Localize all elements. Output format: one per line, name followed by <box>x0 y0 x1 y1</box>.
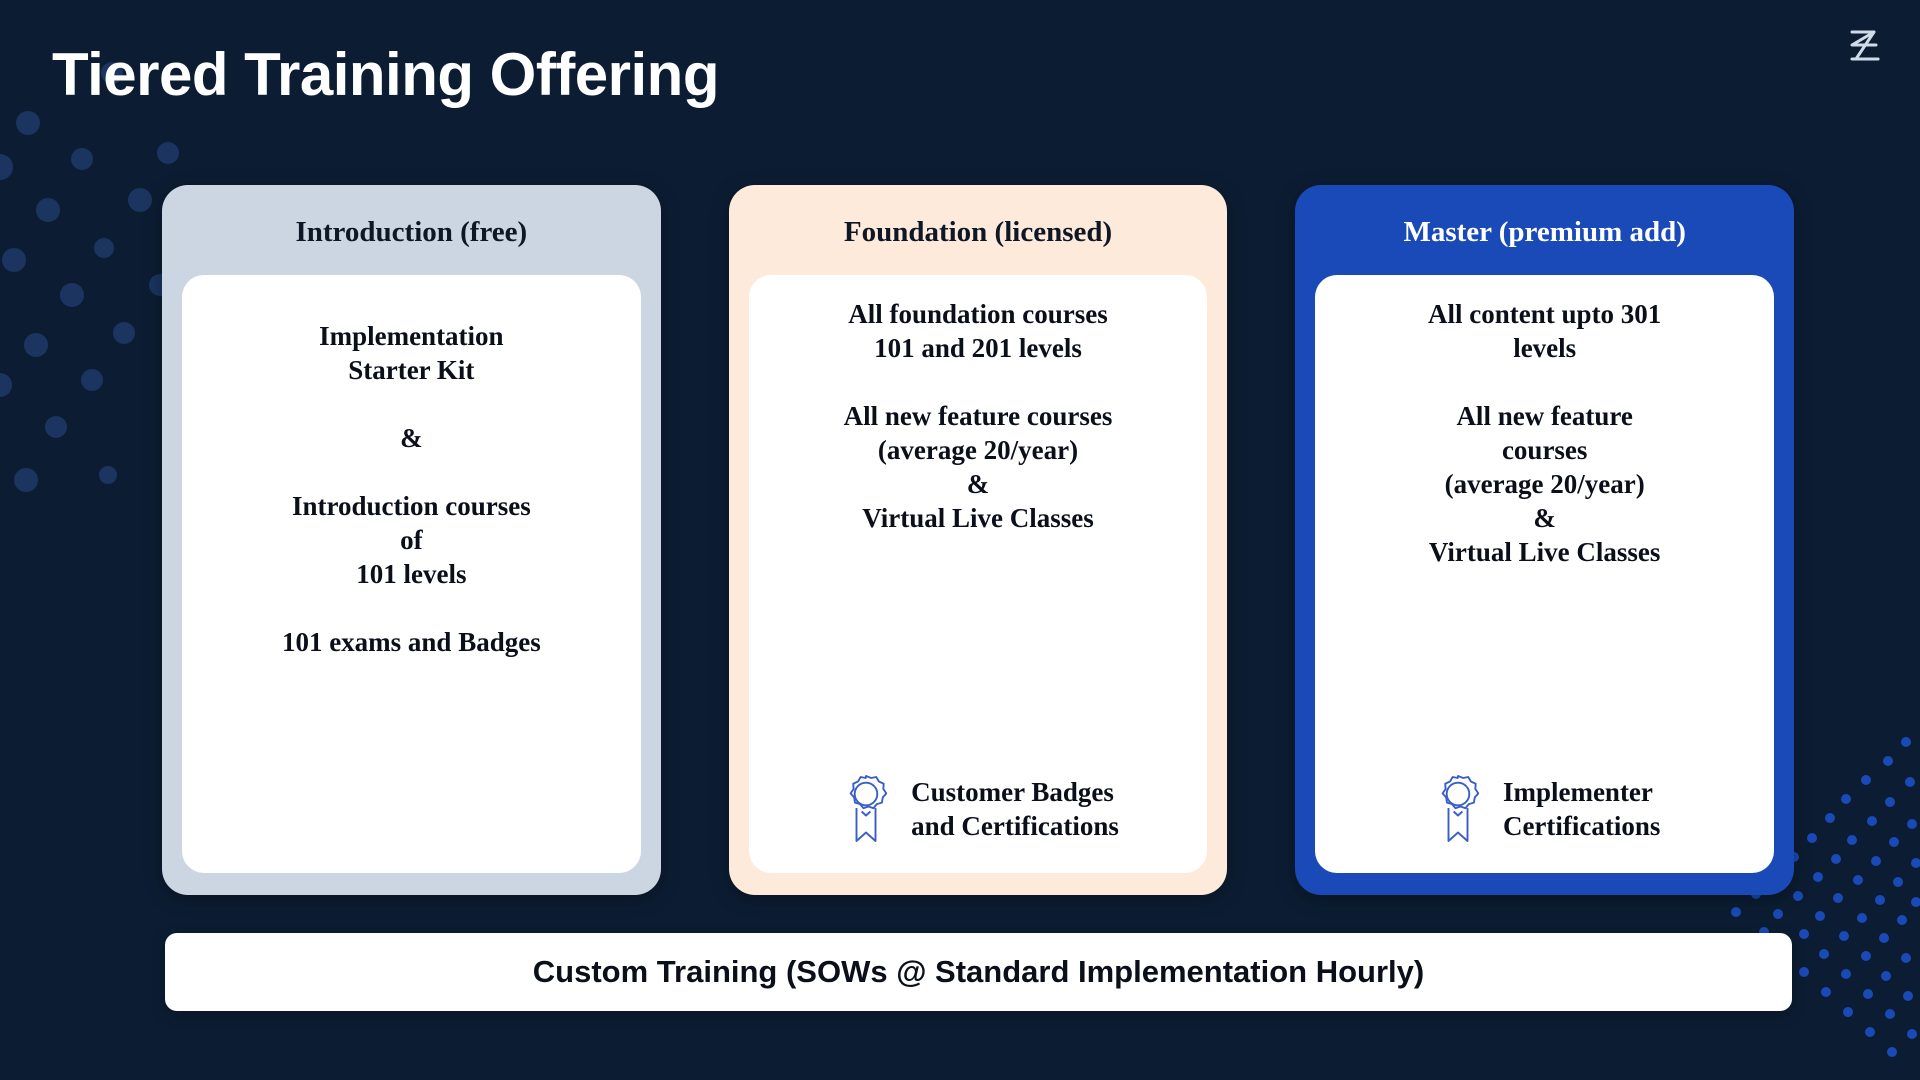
badge-row: Customer Badges and Certifications <box>767 773 1190 855</box>
award-ribbon-icon <box>837 773 895 845</box>
tier-feature-block: All new feature courses (average 20/year… <box>1333 399 1756 569</box>
decorative-dots-left <box>0 55 180 575</box>
tier-card-master[interactable]: Master (premium add) All content upto 30… <box>1295 185 1794 895</box>
badge-row: Implementer Certifications <box>1333 773 1756 855</box>
badge-label: Implementer Certifications <box>1503 775 1660 843</box>
award-ribbon-icon <box>1429 773 1487 845</box>
tier-feature-block: 101 exams and Badges <box>200 625 623 659</box>
tier-card-introduction[interactable]: Introduction (free) Implementation Start… <box>162 185 661 895</box>
tier-title: Introduction (free) <box>162 185 661 249</box>
custom-training-bar[interactable]: Custom Training (SOWs @ Standard Impleme… <box>165 933 1792 1011</box>
tier-feature-block: Introduction courses of 101 levels <box>200 489 623 591</box>
tier-feature-block: All content upto 301 levels <box>1333 297 1756 365</box>
page-title: Tiered Training Offering <box>52 40 719 109</box>
tier-title: Foundation (licensed) <box>729 185 1228 249</box>
tier-cards-row: Introduction (free) Implementation Start… <box>162 185 1794 895</box>
tier-feature-block: Implementation Starter Kit <box>200 319 623 387</box>
zigzag-z-logo <box>1836 18 1892 74</box>
tier-card-foundation[interactable]: Foundation (licensed) All foundation cou… <box>729 185 1228 895</box>
tier-title: Master (premium add) <box>1295 185 1794 249</box>
tier-feature-block: All new feature courses (average 20/year… <box>767 399 1190 535</box>
badge-label: Customer Badges and Certifications <box>911 775 1119 843</box>
tier-body: All content upto 301 levels All new feat… <box>1315 275 1774 873</box>
tier-feature-block: & <box>200 421 623 455</box>
tier-feature-block: All foundation courses 101 and 201 level… <box>767 297 1190 365</box>
tier-body: Implementation Starter Kit & Introductio… <box>182 275 641 873</box>
tier-body: All foundation courses 101 and 201 level… <box>749 275 1208 873</box>
custom-training-label: Custom Training (SOWs @ Standard Impleme… <box>533 954 1424 990</box>
